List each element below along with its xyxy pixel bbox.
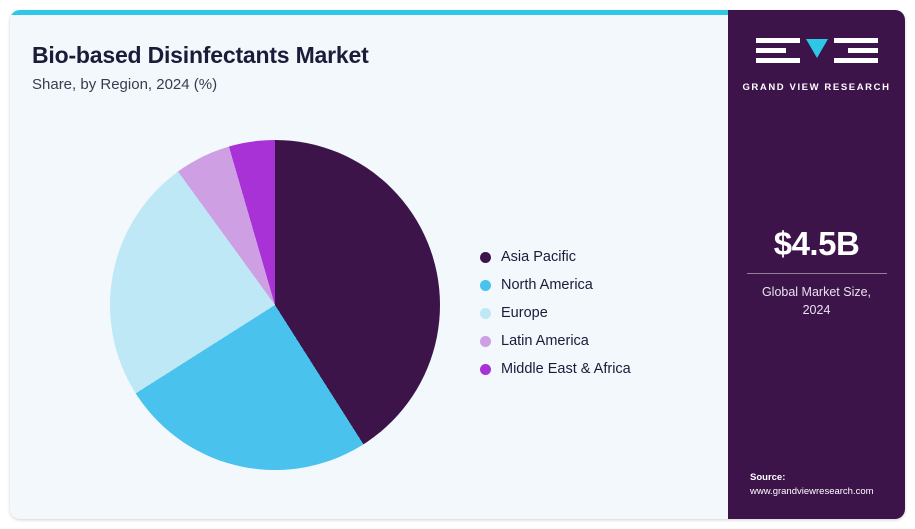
brand-panel: GRAND VIEW RESEARCH $4.5B Global Market … xyxy=(728,10,905,519)
legend-item-label: Europe xyxy=(501,305,548,321)
legend-item-label: Asia Pacific xyxy=(501,249,576,265)
logo-right-bars-icon xyxy=(834,38,878,66)
chart-legend: Asia Pacific North America Europe Latin … xyxy=(480,243,710,383)
brand-name: GRAND VIEW RESEARCH xyxy=(728,82,905,93)
legend-item-label: North America xyxy=(501,277,593,293)
legend-item[interactable]: Middle East & Africa xyxy=(480,355,710,383)
grand-view-research-logo-icon xyxy=(756,38,878,68)
legend-item[interactable]: North America xyxy=(480,271,710,299)
source-block: Source: www.grandviewresearch.com xyxy=(750,472,900,497)
market-size-stat: $4.5B Global Market Size, 2024 xyxy=(728,225,905,319)
stat-value: $4.5B xyxy=(728,225,905,263)
stat-divider xyxy=(747,273,887,274)
legend-item-label: Latin America xyxy=(501,333,589,349)
stat-caption-line-2: 2024 xyxy=(728,301,905,319)
logo-left-bars-icon xyxy=(756,38,800,66)
page-title: Bio-based Disinfectants Market xyxy=(32,42,369,69)
stat-caption-line-1: Global Market Size, xyxy=(728,283,905,301)
legend-color-swatch-icon xyxy=(480,364,491,375)
legend-item[interactable]: Latin America xyxy=(480,327,710,355)
chart-card: Bio-based Disinfectants Market Share, by… xyxy=(10,10,905,519)
source-url[interactable]: www.grandviewresearch.com xyxy=(750,486,900,497)
legend-color-swatch-icon xyxy=(480,308,491,319)
source-label: Source: xyxy=(750,472,900,483)
chart-subtitle: Share, by Region, 2024 (%) xyxy=(32,76,217,93)
chart-panel: Bio-based Disinfectants Market Share, by… xyxy=(10,15,728,519)
pie-chart xyxy=(110,140,440,470)
legend-item[interactable]: Asia Pacific xyxy=(480,243,710,271)
legend-color-swatch-icon xyxy=(480,280,491,291)
legend-item[interactable]: Europe xyxy=(480,299,710,327)
logo-triangle-icon xyxy=(806,39,828,58)
stat-caption: Global Market Size, 2024 xyxy=(728,283,905,319)
legend-color-swatch-icon xyxy=(480,252,491,263)
pie-slices xyxy=(110,140,440,470)
brand-logo: GRAND VIEW RESEARCH xyxy=(728,38,905,93)
legend-item-label: Middle East & Africa xyxy=(501,361,631,377)
legend-color-swatch-icon xyxy=(480,336,491,347)
